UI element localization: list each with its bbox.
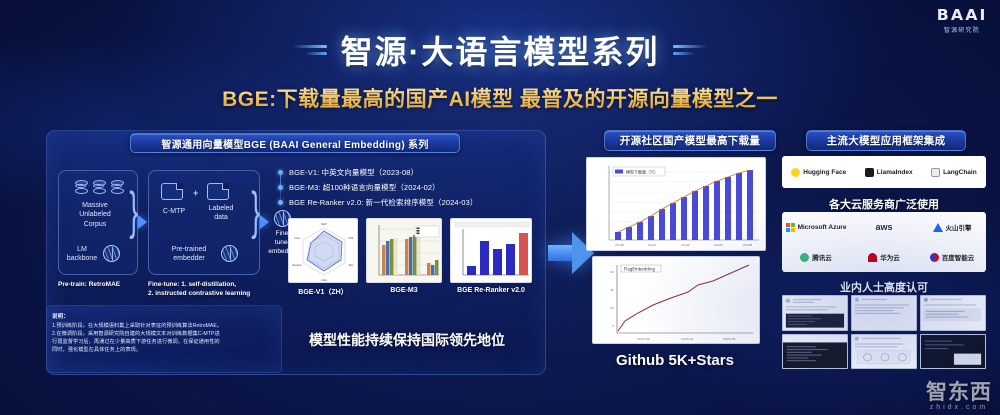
bar-chart-svg (451, 219, 532, 283)
database-icon (111, 180, 122, 194)
title-row: 智源·大语言模型系列 (0, 27, 1000, 73)
watermark-url: zhidx.com (926, 404, 992, 411)
svg-text:24-08: 24-08 (743, 243, 752, 247)
screenshot-thumb (851, 295, 917, 331)
bullet-text: BGE Re-Ranker v2.0: 新一代检索排序模型（2024-03） (289, 197, 477, 208)
llamaindex-icon (865, 168, 874, 177)
database-icons (59, 180, 137, 194)
stage2-brace: } (251, 184, 260, 236)
svg-text:24-05: 24-05 (714, 243, 723, 247)
svg-text:23-08: 23-08 (615, 243, 624, 247)
left-panel-caption: 模型性能持续保持国际领先地位 (282, 330, 532, 350)
title-dash-left (293, 45, 327, 55)
document-icon (161, 183, 183, 200)
screenshot-thumb (782, 334, 848, 370)
database-icon (93, 180, 104, 194)
plus-icon: + (193, 188, 198, 198)
chart-thumbnail-bge-m3 (366, 218, 442, 283)
svg-text:FlagEmbedding: FlagEmbedding (624, 267, 656, 272)
stage2-labeled-label: Labeled data (199, 204, 243, 223)
note-line: 2.在微调阶段，采用智源研究院自建的大规模文本对训练数据集C-MTP进 (52, 330, 276, 338)
stage1-caption: Pre-train: RetroMAE (58, 280, 120, 289)
list-item: BGE-V1: 中英文向量模型（2023-08） (278, 167, 528, 178)
grouped-bar-chart-svg (367, 219, 442, 283)
note-line: 行弱监督学习后，再通过在少量高质下游任务进行微调，在保证通用性的 (52, 338, 276, 346)
svg-text:2023-09: 2023-09 (637, 337, 650, 341)
github-stars-chart-svg: FlagEmbedding 2023-092024-012024-05 02k4… (593, 257, 760, 344)
cloud-label: 腾讯云 (812, 252, 832, 262)
chart-thumbnail-radar: RetrSTSPair ClasRerankClus (288, 218, 358, 283)
stage2-cmtp-label: C-MTP (154, 207, 194, 216)
thumbnail-caption: BGE-V1（ZH） (288, 287, 358, 297)
svg-text:2024-05: 2024-05 (723, 337, 736, 341)
pipeline-arrow-2 (260, 215, 269, 229)
note-line: 1.预训练阶段，在大规模语料集上采取针对表征的预训练算法RetroMAE。 (52, 322, 276, 330)
svg-text:0: 0 (612, 324, 614, 328)
thumbnail-caption: BGE Re-Ranker v2.0 (450, 287, 532, 294)
bullet-text: BGE-V1: 中英文向量模型（2023-08） (289, 167, 418, 178)
bullet-text: BGE-M3: 超100种语言向量模型（2024-02） (289, 182, 440, 193)
screenshot-thumb (851, 334, 917, 370)
huawei-icon (868, 253, 877, 262)
svg-text:Retr: Retr (321, 222, 327, 226)
volcengine-icon (933, 223, 943, 232)
svg-text:Clus: Clus (294, 236, 300, 240)
downloads-chart: 模型下载量（万） 23-0823-11 24-0224-0524-08 (586, 157, 766, 251)
baai-logo: BAAI 智源研究院 (938, 6, 986, 34)
bullet-dot (278, 170, 283, 175)
svg-text:23-11: 23-11 (648, 243, 657, 247)
svg-text:24-02: 24-02 (681, 243, 690, 247)
logo-huawei-cloud: 华为云 (868, 252, 900, 262)
svg-text:2024-01: 2024-01 (681, 337, 694, 341)
github-stars-caption: Github 5K+Stars (576, 352, 774, 369)
document-icon (207, 183, 229, 200)
bullet-list: BGE-V1: 中英文向量模型（2023-08） BGE-M3: 超100种语言… (278, 167, 528, 212)
langchain-icon (931, 168, 940, 177)
framework-label: LlamaIndex (877, 169, 913, 176)
hugging-face-icon (791, 168, 800, 177)
svg-text:2k: 2k (610, 306, 614, 310)
baai-logo-mark: BAAI (937, 6, 988, 24)
cloud-label: 百度智能云 (942, 252, 975, 262)
cloud-provider-logos: Microsoft Azure aws 火山引擎 腾讯云 华为云 百度智能云 (782, 212, 986, 272)
microsoft-icon (786, 223, 795, 232)
stage1-corpus-label: Massive Unlabeled Corpus (65, 201, 125, 229)
chart-thumbnail-reranker (450, 218, 532, 283)
pipeline-stage-pretrain: Massive Unlabeled Corpus LM backbone } (58, 170, 138, 275)
pipeline-arrow-1 (138, 215, 147, 229)
svg-text:Clas: Clas (321, 278, 327, 282)
svg-text:Rerank: Rerank (292, 263, 302, 267)
stage2-caption: Fine-tune: 1. self-distillation, 2. inst… (148, 280, 250, 299)
logo-baidu-cloud: 百度智能云 (930, 252, 975, 262)
svg-text:STS: STS (349, 236, 354, 240)
endorse-section-title: 业内人士高度认可 (778, 279, 990, 295)
page-title: 智源·大语言模型系列 (341, 27, 660, 73)
cloud-label: aws (875, 222, 892, 232)
thumbnail-caption: BGE-M3 (366, 287, 442, 294)
logo-volcengine: 火山引擎 (933, 222, 972, 232)
watermark: 智东西 zhidx.com (926, 376, 992, 411)
note-content: 说明： 1.预训练阶段，在大规模语料集上采取针对表征的预训练算法RetroMAE… (52, 312, 276, 354)
watermark-title: 智东西 (926, 376, 992, 406)
framework-label: LangChain (943, 169, 977, 176)
logo-llamaindex: LlamaIndex (865, 168, 913, 177)
baidu-icon (930, 253, 939, 262)
mid-panel-header: 开源社区国产模型最高下载量 (604, 130, 776, 151)
left-panel-header: 智源通用向量模型BGE (BAAI General Embedding) 系列 (130, 133, 460, 153)
radar-chart-svg: RetrSTSPair ClasRerankClus (289, 219, 358, 283)
svg-text:模型下载量（万）: 模型下载量（万） (626, 169, 658, 175)
logo-microsoft-azure: Microsoft Azure (786, 223, 847, 232)
pipeline-stage-finetune: + C-MTP Labeled data Pre-trained embedde… (148, 170, 260, 275)
cloud-label: 华为云 (880, 252, 900, 262)
logo-tencent-cloud: 腾讯云 (800, 252, 832, 262)
tencent-icon (800, 253, 809, 262)
endorsement-screenshots (782, 295, 986, 369)
cloud-label: Microsoft Azure (798, 224, 847, 231)
database-icon (75, 180, 86, 194)
framework-logos: Hugging Face LlamaIndex LangChain (782, 156, 986, 188)
slide-root: BAAI 智源研究院 智源·大语言模型系列 BGE:下载量最高的国产AI模型 最… (0, 0, 1000, 415)
logo-langchain: LangChain (931, 168, 977, 177)
stage2-embedder-label: Pre-trained embedder (161, 245, 217, 264)
svg-text:5k: 5k (610, 270, 614, 274)
baai-logo-subtitle: 智源研究院 (938, 25, 986, 34)
list-item: BGE Re-Ranker v2.0: 新一代检索排序模型（2024-03） (278, 197, 528, 208)
right-panel-header: 主流大模型应用框架集成 (806, 130, 966, 151)
stage1-backbone-label: LM backbone (62, 245, 102, 264)
github-stars-chart: FlagEmbedding 2023-092024-012024-05 02k4… (592, 256, 760, 344)
stage1-brace: } (129, 184, 138, 236)
screenshot-thumb (920, 295, 986, 331)
cloud-section-title: 各大云服务商广泛使用 (778, 196, 990, 212)
framework-label: Hugging Face (803, 169, 846, 176)
bullet-dot (278, 200, 283, 205)
brain-icon (221, 245, 238, 262)
downloads-chart-svg: 模型下载量（万） 23-0823-11 24-0224-0524-08 (587, 158, 766, 251)
title-dash-right (673, 45, 707, 55)
screenshot-thumb (920, 334, 986, 370)
cloud-label: 火山引擎 (946, 222, 972, 232)
screenshot-thumb (782, 295, 848, 331)
list-item: BGE-M3: 超100种语言向量模型（2024-02） (278, 182, 528, 193)
logo-aws: aws (875, 222, 892, 232)
svg-text:4k: 4k (610, 288, 614, 292)
logo-hugging-face: Hugging Face (791, 168, 846, 177)
page-subtitle: BGE:下载量最高的国产AI模型 最普及的开源向量模型之一 (0, 83, 1000, 113)
brain-icon (103, 245, 120, 262)
note-title: 说明： (52, 312, 276, 320)
note-line: 同时，强化模型在具体任务上的表现。 (52, 346, 276, 354)
bullet-dot (278, 185, 283, 190)
